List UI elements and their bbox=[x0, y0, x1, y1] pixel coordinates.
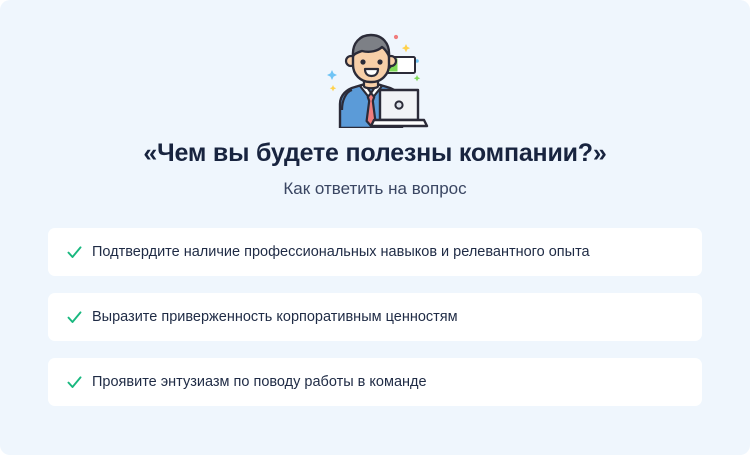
list-item[interactable]: Подтвердите наличие профессиональных нав… bbox=[48, 228, 702, 276]
list-item-label: Выразите приверженность корпоративным це… bbox=[92, 307, 458, 327]
page-root: «Чем вы будете полезны компании?» Как от… bbox=[0, 0, 750, 455]
page-title: «Чем вы будете полезны компании?» bbox=[0, 137, 750, 169]
page-subtitle: Как ответить на вопрос bbox=[0, 177, 750, 201]
list-item[interactable]: Проявите энтузиазм по поводу работы в ко… bbox=[48, 358, 702, 406]
office-worker-with-laptop-illustration bbox=[320, 28, 430, 128]
check-icon bbox=[66, 244, 83, 261]
illustration-container bbox=[0, 28, 750, 128]
list-item-label: Проявите энтузиазм по поводу работы в ко… bbox=[92, 372, 427, 392]
list-item[interactable]: Выразите приверженность корпоративным це… bbox=[48, 293, 702, 341]
check-icon bbox=[66, 374, 83, 391]
check-icon bbox=[66, 309, 83, 326]
tips-list: Подтвердите наличие профессиональных нав… bbox=[48, 228, 702, 406]
list-item-label: Подтвердите наличие профессиональных нав… bbox=[92, 242, 590, 262]
